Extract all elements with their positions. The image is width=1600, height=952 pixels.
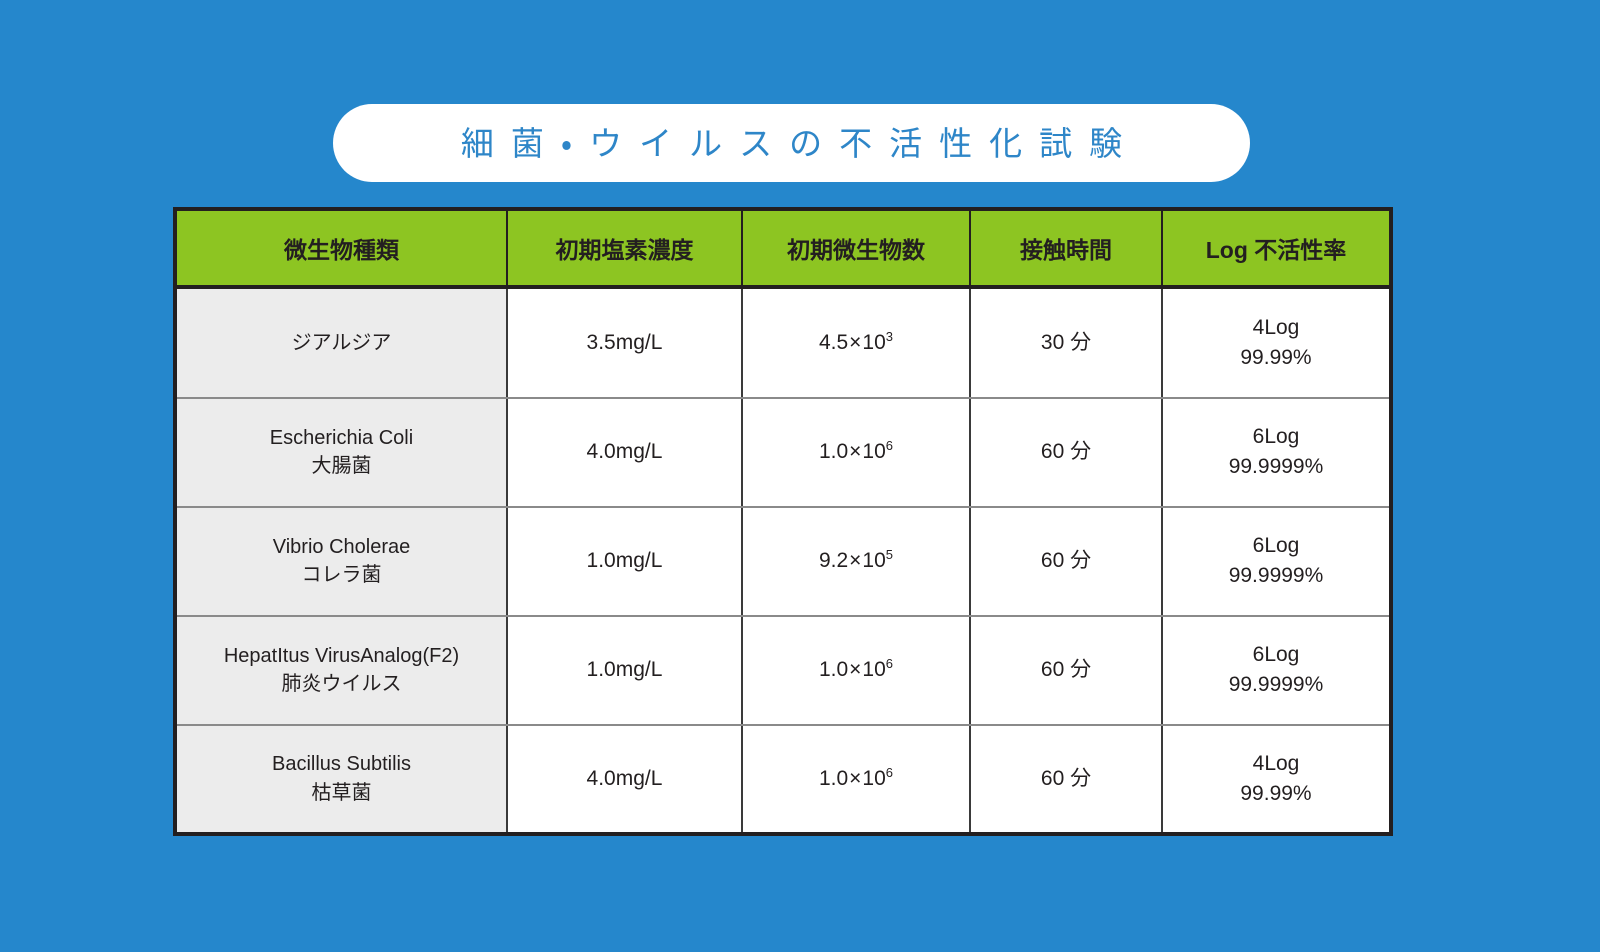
cell-chlorine: 4.0mg/L: [507, 398, 742, 507]
log-value: 6Log: [1169, 531, 1383, 561]
cell-log-inactivation: 4Log 99.99%: [1162, 287, 1389, 398]
cell-microorganism: Vibrio Cholerae コレラ菌: [177, 507, 507, 616]
cell-chlorine: 1.0mg/L: [507, 507, 742, 616]
multiplication-icon: ×: [848, 658, 862, 681]
table-row: Escherichia Coli 大腸菌 4.0mg/L 1.0×106 60 …: [177, 398, 1389, 507]
cell-initial-count: 1.0×106: [742, 725, 970, 832]
cell-microorganism: HepatItus VirusAnalog(F2) 肺炎ウイルス: [177, 616, 507, 725]
count-mantissa: 1.0: [819, 440, 848, 463]
multiplication-icon: ×: [848, 440, 862, 463]
log-value: 6Log: [1169, 640, 1383, 670]
cell-log-inactivation: 6Log 99.9999%: [1162, 507, 1389, 616]
microorganism-name-ja: コレラ菌: [183, 561, 500, 589]
count-exponent: 3: [886, 329, 893, 344]
table: 微生物種類 初期塩素濃度 初期微生物数 接触時間 Log 不活性率 ジアルジア …: [177, 211, 1389, 832]
column-header-log-inactivation: Log 不活性率: [1162, 211, 1389, 287]
page-title: 細菌・ウイルスの不活性化試験: [444, 127, 1139, 160]
multiplication-icon: ×: [848, 331, 862, 354]
cell-chlorine: 3.5mg/L: [507, 287, 742, 398]
microorganism-name-en: Bacillus Subtilis: [183, 750, 500, 778]
table-row: ジアルジア 3.5mg/L 4.5×103 30 分 4Log 99.99%: [177, 287, 1389, 398]
log-value: 6Log: [1169, 422, 1383, 452]
count-base: 10: [862, 767, 885, 790]
multiplication-icon: ×: [848, 767, 862, 790]
count-mantissa: 4.5: [819, 331, 848, 354]
cell-initial-count: 1.0×106: [742, 398, 970, 507]
cell-microorganism: Bacillus Subtilis 枯草菌: [177, 725, 507, 832]
cell-contact-time: 30 分: [970, 287, 1162, 398]
log-value: 4Log: [1169, 749, 1383, 779]
table-row: Bacillus Subtilis 枯草菌 4.0mg/L 1.0×106 60…: [177, 725, 1389, 832]
log-percent: 99.99%: [1169, 779, 1383, 809]
cell-log-inactivation: 4Log 99.99%: [1162, 725, 1389, 832]
cell-microorganism: Escherichia Coli 大腸菌: [177, 398, 507, 507]
count-base: 10: [862, 440, 885, 463]
cell-initial-count: 1.0×106: [742, 616, 970, 725]
table-header-row: 微生物種類 初期塩素濃度 初期微生物数 接触時間 Log 不活性率: [177, 211, 1389, 287]
microorganism-name-ja: ジアルジア: [183, 329, 500, 357]
cell-contact-time: 60 分: [970, 616, 1162, 725]
cell-contact-time: 60 分: [970, 725, 1162, 832]
count-base: 10: [862, 331, 885, 354]
microorganism-name-en: Vibrio Cholerae: [183, 533, 500, 561]
column-header-contact-time: 接触時間: [970, 211, 1162, 287]
cell-chlorine: 4.0mg/L: [507, 725, 742, 832]
count-exponent: 6: [886, 438, 893, 453]
table-body: ジアルジア 3.5mg/L 4.5×103 30 分 4Log 99.99% E…: [177, 287, 1389, 832]
cell-initial-count: 9.2×105: [742, 507, 970, 616]
microorganism-name-ja: 枯草菌: [183, 779, 500, 807]
cell-chlorine: 1.0mg/L: [507, 616, 742, 725]
table-row: Vibrio Cholerae コレラ菌 1.0mg/L 9.2×105 60 …: [177, 507, 1389, 616]
cell-log-inactivation: 6Log 99.9999%: [1162, 398, 1389, 507]
count-mantissa: 1.0: [819, 658, 848, 681]
cell-contact-time: 60 分: [970, 507, 1162, 616]
title-pill: 細菌・ウイルスの不活性化試験: [333, 104, 1250, 182]
microorganism-name-ja: 大腸菌: [183, 452, 500, 480]
microorganism-name-en: Escherichia Coli: [183, 424, 500, 452]
log-value: 4Log: [1169, 313, 1383, 343]
column-header-microorganism: 微生物種類: [177, 211, 507, 287]
count-base: 10: [862, 549, 885, 572]
count-mantissa: 1.0: [819, 767, 848, 790]
column-header-initial-chlorine: 初期塩素濃度: [507, 211, 742, 287]
inactivation-test-table: 微生物種類 初期塩素濃度 初期微生物数 接触時間 Log 不活性率 ジアルジア …: [173, 207, 1393, 836]
count-exponent: 6: [886, 656, 893, 671]
count-exponent: 5: [886, 547, 893, 562]
count-base: 10: [862, 658, 885, 681]
log-percent: 99.99%: [1169, 343, 1383, 373]
microorganism-name-en: HepatItus VirusAnalog(F2): [183, 642, 500, 670]
log-percent: 99.9999%: [1169, 452, 1383, 482]
log-percent: 99.9999%: [1169, 670, 1383, 700]
log-percent: 99.9999%: [1169, 561, 1383, 591]
multiplication-icon: ×: [848, 549, 862, 572]
cell-microorganism: ジアルジア: [177, 287, 507, 398]
cell-log-inactivation: 6Log 99.9999%: [1162, 616, 1389, 725]
count-exponent: 6: [886, 765, 893, 780]
column-header-initial-count: 初期微生物数: [742, 211, 970, 287]
cell-contact-time: 60 分: [970, 398, 1162, 507]
microorganism-name-ja: 肺炎ウイルス: [183, 670, 500, 698]
count-mantissa: 9.2: [819, 549, 848, 572]
table-header: 微生物種類 初期塩素濃度 初期微生物数 接触時間 Log 不活性率: [177, 211, 1389, 287]
table-row: HepatItus VirusAnalog(F2) 肺炎ウイルス 1.0mg/L…: [177, 616, 1389, 725]
cell-initial-count: 4.5×103: [742, 287, 970, 398]
